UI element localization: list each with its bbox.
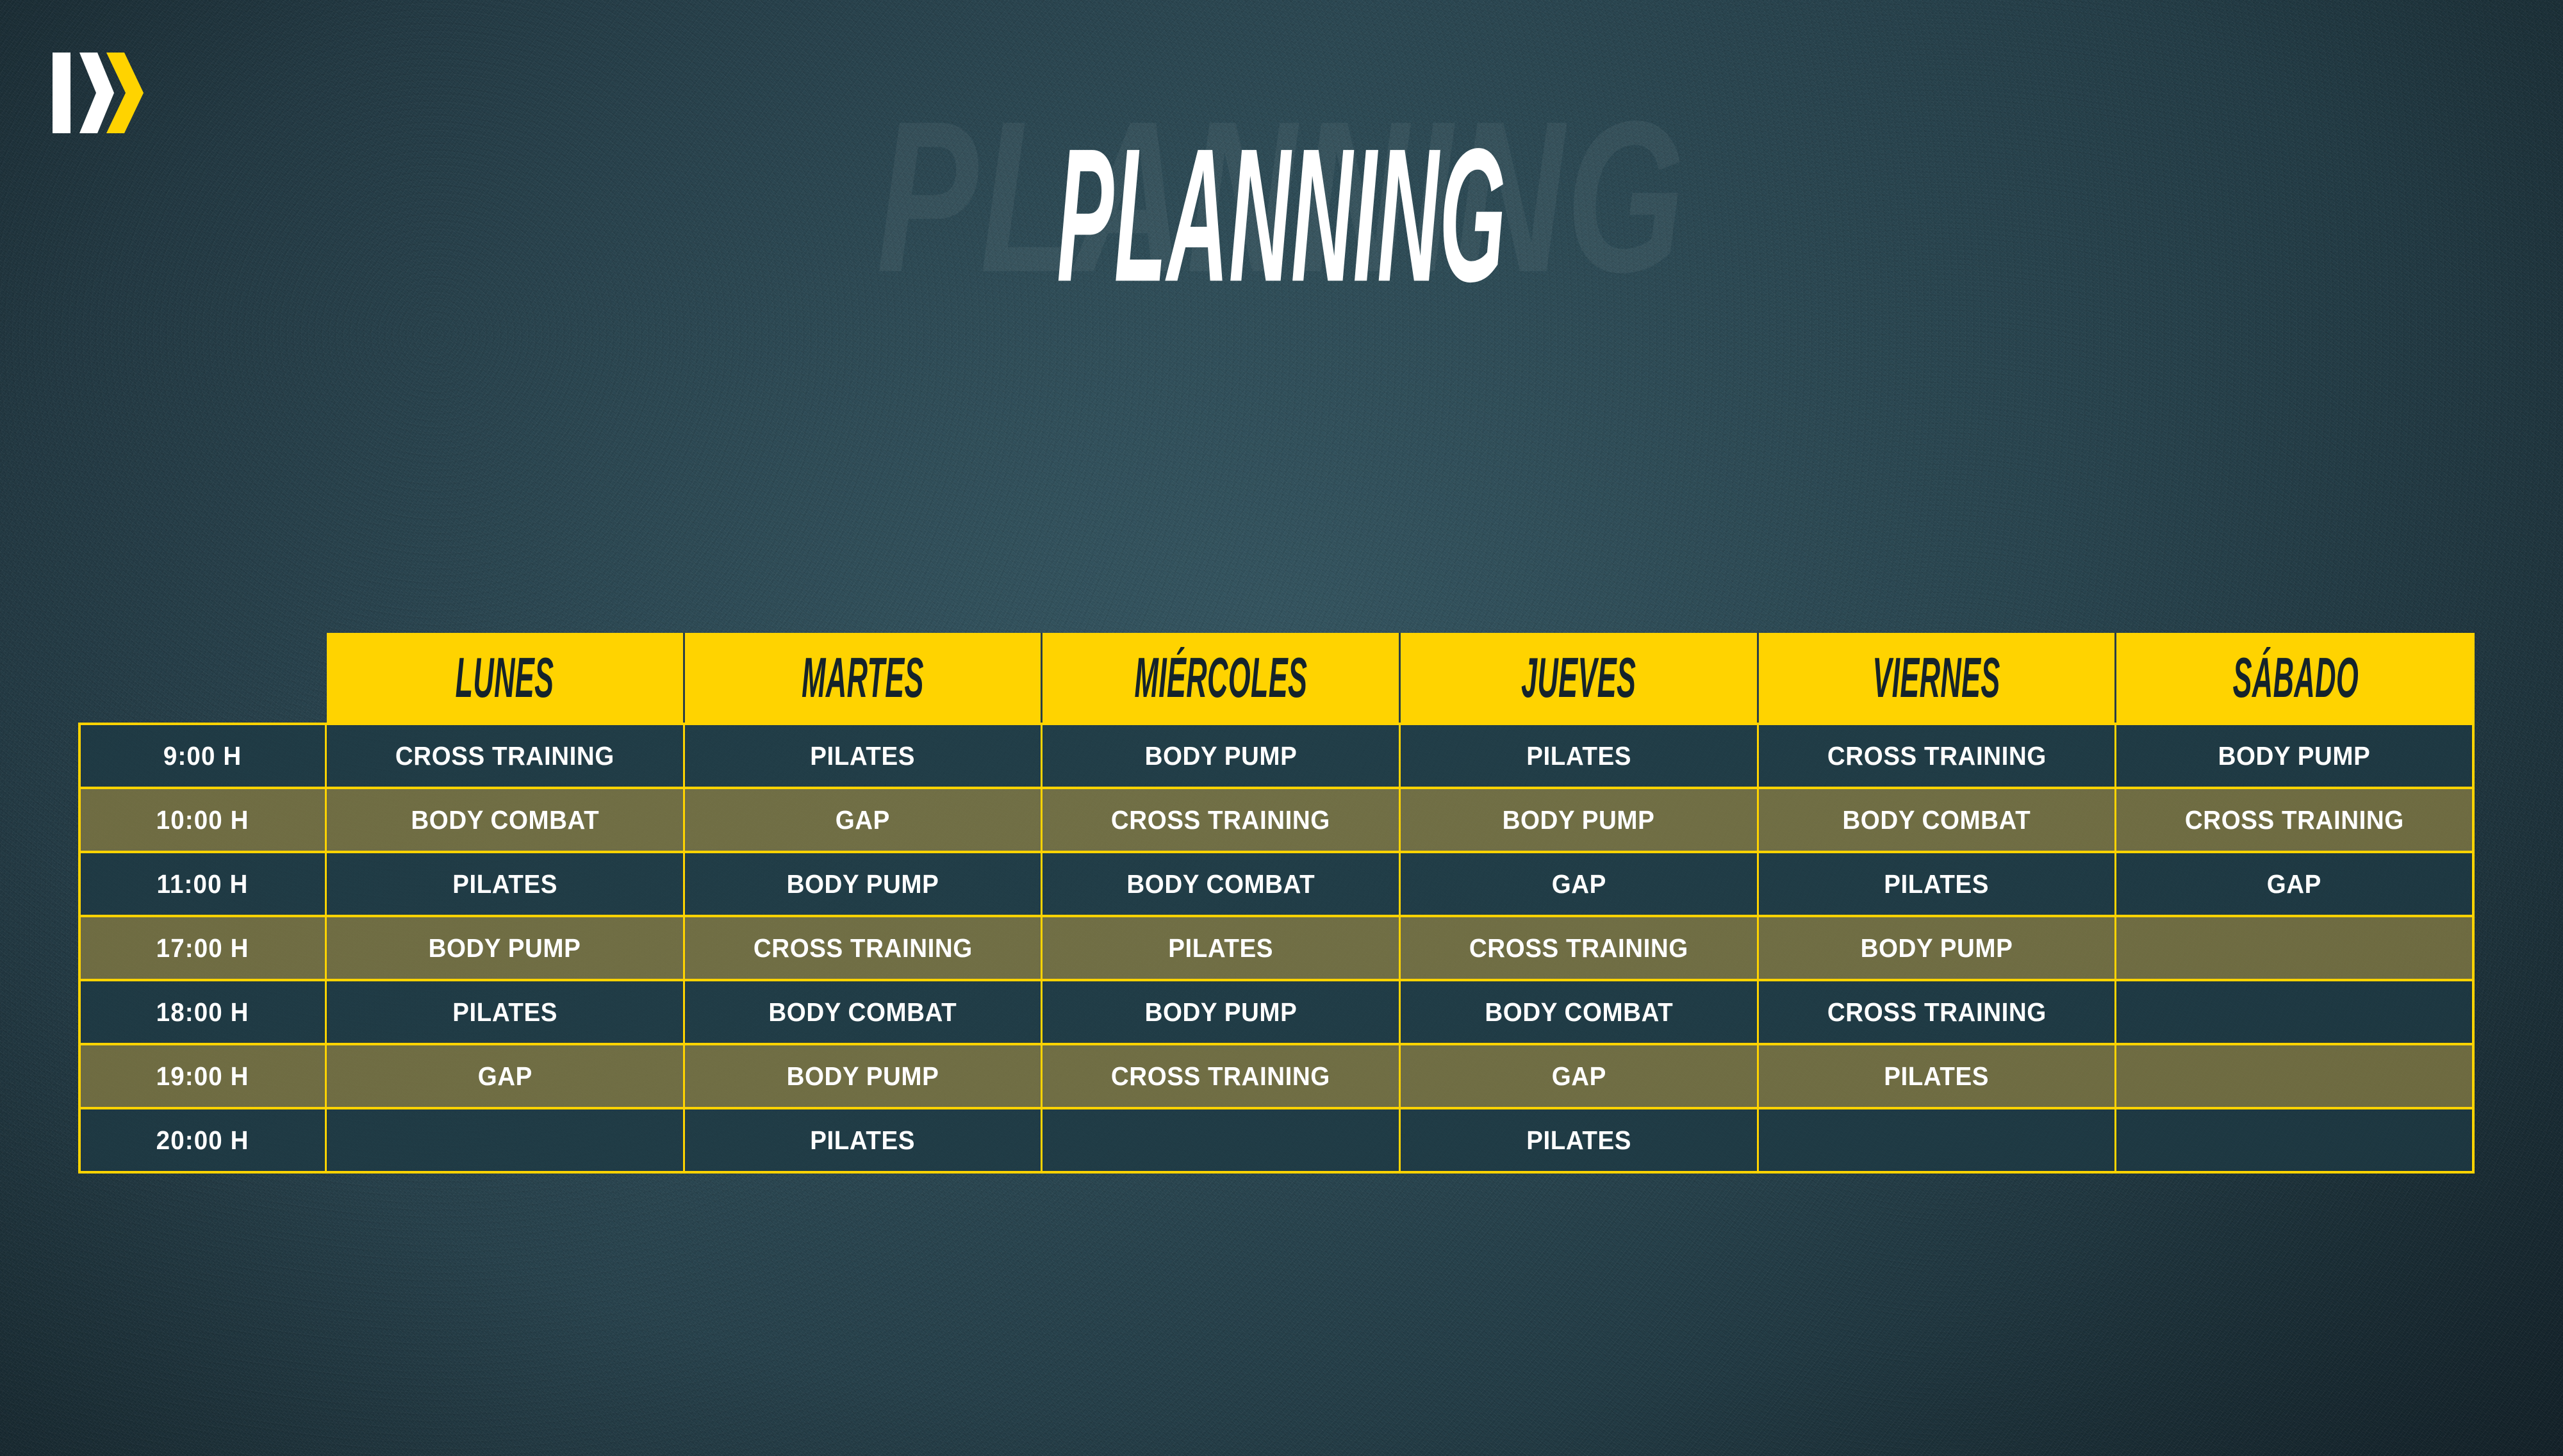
class-cell[interactable]: PILATES xyxy=(1759,1045,2117,1107)
class-cell[interactable]: BODY COMBAT xyxy=(685,981,1043,1043)
class-label: CROSS TRAINING xyxy=(1827,999,2047,1026)
schedule-table: LUNESMARTESMIÉRCOLESJUEVESVIERNESSÁBADO … xyxy=(78,633,2475,1174)
class-cell[interactable]: CROSS TRAINING xyxy=(2116,789,2475,851)
class-label: BODY PUMP xyxy=(787,871,939,897)
time-label: 17:00 H xyxy=(156,935,249,961)
day-header-label: JUEVES xyxy=(1521,650,1636,706)
class-label: GAP xyxy=(1551,1063,1606,1090)
class-label: CROSS TRAINING xyxy=(754,935,973,961)
class-cell[interactable]: CROSS TRAINING xyxy=(327,725,685,787)
class-cell[interactable]: BODY PUMP xyxy=(685,853,1043,915)
class-label: PILATES xyxy=(811,1127,916,1154)
class-cell[interactable]: PILATES xyxy=(327,981,685,1043)
class-label: CROSS TRAINING xyxy=(1827,743,2047,769)
class-cell[interactable]: GAP xyxy=(1401,853,1759,915)
day-header-label: SÁBADO xyxy=(2232,650,2358,706)
class-cell[interactable]: GAP xyxy=(2116,853,2475,915)
class-cell-empty xyxy=(2116,1109,2475,1171)
table-row: 20:00 HPILATESPILATES xyxy=(78,1109,2475,1174)
class-label: GAP xyxy=(477,1063,532,1090)
title-stack: PLANNING PLANNING xyxy=(0,109,2563,378)
table-row: 10:00 HBODY COMBATGAPCROSS TRAININGBODY … xyxy=(78,789,2475,853)
class-cell[interactable]: CROSS TRAINING xyxy=(1401,917,1759,979)
page-title: PLANNING PLANNING xyxy=(0,109,2563,378)
time-cell: 9:00 H xyxy=(78,725,327,787)
class-cell[interactable]: BODY PUMP xyxy=(2116,725,2475,787)
class-label: BODY PUMP xyxy=(1144,743,1297,769)
class-cell-empty xyxy=(2116,1045,2475,1107)
day-header-sbado: SÁBADO xyxy=(2116,633,2475,723)
day-header-mircoles: MIÉRCOLES xyxy=(1043,633,1401,723)
table-row: 18:00 HPILATESBODY COMBATBODY PUMPBODY C… xyxy=(78,981,2475,1045)
table-body: 9:00 HCROSS TRAININGPILATESBODY PUMPPILA… xyxy=(78,723,2475,1174)
class-label: PILATES xyxy=(1526,1127,1631,1154)
time-cell: 10:00 H xyxy=(78,789,327,851)
class-label: CROSS TRAINING xyxy=(1111,1063,1330,1090)
page-content: PLANNING PLANNING LUNESMARTESMIÉRCOLESJU… xyxy=(0,0,2563,1456)
class-cell[interactable]: BODY COMBAT xyxy=(327,789,685,851)
class-cell[interactable]: BODY COMBAT xyxy=(1401,981,1759,1043)
table-row: 11:00 HPILATESBODY PUMPBODY COMBATGAPPIL… xyxy=(78,853,2475,917)
class-cell[interactable]: BODY PUMP xyxy=(1043,725,1401,787)
time-label: 19:00 H xyxy=(156,1063,249,1090)
class-cell[interactable]: PILATES xyxy=(1401,725,1759,787)
page-title-text: PLANNING xyxy=(487,120,2076,310)
class-cell-empty xyxy=(327,1109,685,1171)
class-cell[interactable]: CROSS TRAINING xyxy=(1759,725,2117,787)
time-label: 10:00 H xyxy=(156,807,249,833)
day-header-lunes: LUNES xyxy=(327,633,685,723)
day-header-viernes: VIERNES xyxy=(1759,633,2117,723)
class-cell[interactable]: CROSS TRAINING xyxy=(1759,981,2117,1043)
class-label: PILATES xyxy=(452,871,557,897)
class-cell[interactable]: BODY COMBAT xyxy=(1759,789,2117,851)
class-label: BODY PUMP xyxy=(1503,807,1655,833)
class-cell[interactable]: CROSS TRAINING xyxy=(1043,789,1401,851)
class-label: BODY PUMP xyxy=(429,935,581,961)
class-label: BODY COMBAT xyxy=(1485,999,1673,1026)
table-row: 9:00 HCROSS TRAININGPILATESBODY PUMPPILA… xyxy=(78,725,2475,789)
class-label: BODY COMBAT xyxy=(769,999,957,1026)
class-cell[interactable]: PILATES xyxy=(1043,917,1401,979)
class-cell[interactable]: GAP xyxy=(327,1045,685,1107)
class-cell[interactable]: BODY PUMP xyxy=(1759,917,2117,979)
class-label: CROSS TRAINING xyxy=(1111,807,1330,833)
class-label: PILATES xyxy=(1884,871,1990,897)
class-cell[interactable]: BODY COMBAT xyxy=(1043,853,1401,915)
class-label: GAP xyxy=(836,807,890,833)
time-cell: 11:00 H xyxy=(78,853,327,915)
class-label: CROSS TRAINING xyxy=(1469,935,1688,961)
class-cell[interactable]: BODY PUMP xyxy=(1401,789,1759,851)
time-label: 11:00 H xyxy=(157,871,249,897)
table-row: 17:00 HBODY PUMPCROSS TRAININGPILATESCRO… xyxy=(78,917,2475,981)
class-cell[interactable]: BODY PUMP xyxy=(1043,981,1401,1043)
class-label: PILATES xyxy=(1526,743,1631,769)
class-cell[interactable]: GAP xyxy=(1401,1045,1759,1107)
class-cell[interactable]: BODY PUMP xyxy=(327,917,685,979)
class-cell[interactable]: CROSS TRAINING xyxy=(1043,1045,1401,1107)
class-cell[interactable]: BODY PUMP xyxy=(685,1045,1043,1107)
class-label: PILATES xyxy=(811,743,916,769)
time-label: 20:00 H xyxy=(156,1127,249,1154)
class-label: GAP xyxy=(1551,871,1606,897)
class-label: BODY PUMP xyxy=(1861,935,2013,961)
class-label: BODY PUMP xyxy=(787,1063,939,1090)
class-label: BODY COMBAT xyxy=(1126,871,1315,897)
time-cell: 19:00 H xyxy=(78,1045,327,1107)
class-label: CROSS TRAINING xyxy=(2185,807,2404,833)
class-cell-empty xyxy=(2116,981,2475,1043)
day-header-jueves: JUEVES xyxy=(1401,633,1759,723)
day-header-label: MARTES xyxy=(802,650,924,706)
class-label: PILATES xyxy=(452,999,557,1026)
class-label: BODY COMBAT xyxy=(1843,807,2031,833)
day-header-label: VIERNES xyxy=(1873,650,2000,706)
class-label: GAP xyxy=(2267,871,2321,897)
class-cell[interactable]: PILATES xyxy=(685,1109,1043,1171)
time-cell: 18:00 H xyxy=(78,981,327,1043)
day-header-label: LUNES xyxy=(456,650,554,706)
time-cell: 20:00 H xyxy=(78,1109,327,1171)
class-label: BODY PUMP xyxy=(2218,743,2371,769)
class-label: PILATES xyxy=(1168,935,1273,961)
class-label: PILATES xyxy=(1884,1063,1990,1090)
class-cell[interactable]: CROSS TRAINING xyxy=(685,917,1043,979)
class-cell[interactable]: PILATES xyxy=(1759,853,2117,915)
table-row: 19:00 HGAPBODY PUMPCROSS TRAININGGAPPILA… xyxy=(78,1045,2475,1109)
time-label: 18:00 H xyxy=(156,999,249,1026)
class-cell[interactable]: PILATES xyxy=(685,725,1043,787)
class-label: CROSS TRAINING xyxy=(395,743,614,769)
class-cell[interactable]: GAP xyxy=(685,789,1043,851)
class-cell-empty xyxy=(1759,1109,2117,1171)
class-label: BODY COMBAT xyxy=(411,807,599,833)
time-cell: 17:00 H xyxy=(78,917,327,979)
class-cell-empty xyxy=(2116,917,2475,979)
table-header-row: LUNESMARTESMIÉRCOLESJUEVESVIERNESSÁBADO xyxy=(327,633,2475,723)
day-header-martes: MARTES xyxy=(685,633,1043,723)
class-cell-empty xyxy=(1043,1109,1401,1171)
class-cell[interactable]: PILATES xyxy=(327,853,685,915)
class-cell[interactable]: PILATES xyxy=(1401,1109,1759,1171)
day-header-label: MIÉRCOLES xyxy=(1134,650,1307,706)
class-label: BODY PUMP xyxy=(1144,999,1297,1026)
time-label: 9:00 H xyxy=(163,743,242,769)
